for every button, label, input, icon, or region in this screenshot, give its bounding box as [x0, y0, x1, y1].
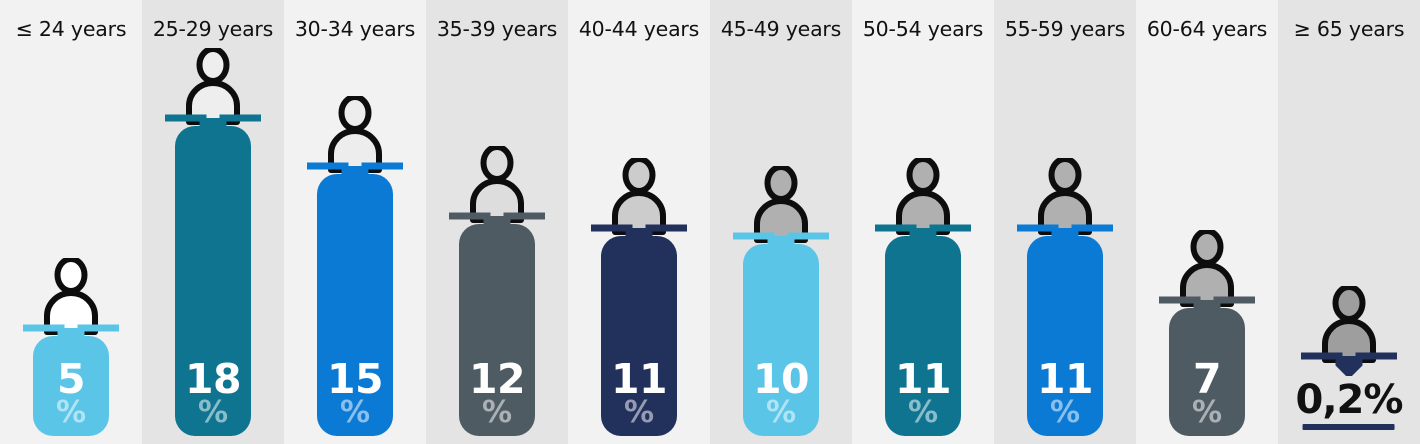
bar-value: 11 [611, 360, 667, 399]
bar-value: 5 [57, 360, 85, 399]
bar-value: 11 [1037, 360, 1093, 399]
age-group-label: 45-49 years [710, 0, 852, 58]
value-bar: 10% [743, 244, 819, 436]
value-bar: 15% [317, 174, 393, 436]
bar-value: 18 [185, 360, 241, 399]
percent-sign: % [482, 398, 512, 428]
value-bar: 11% [885, 236, 961, 436]
person-speech-icon [1011, 158, 1119, 248]
person-speech-icon [1153, 230, 1261, 320]
bar-value: 12 [469, 360, 525, 399]
bar-value: 10 [753, 360, 809, 399]
person-speech-icon [727, 166, 835, 256]
person-speech-icon [301, 96, 409, 186]
person-speech-icon [443, 146, 551, 236]
age-group-label: 60-64 years [1136, 0, 1278, 58]
person-speech-icon [17, 258, 125, 348]
age-group-column: ≤ 24 years5% [0, 0, 142, 444]
value-bar: 11% [601, 236, 677, 436]
percent-sign: % [908, 398, 938, 428]
percent-sign: % [340, 398, 370, 428]
age-group-column: 45-49 years10% [710, 0, 852, 444]
age-group-column: 55-59 years11% [994, 0, 1136, 444]
bar-value: 15 [327, 360, 383, 399]
age-group-column: 25-29 years18% [142, 0, 284, 444]
value-bar: 12% [459, 224, 535, 436]
age-group-column: 60-64 years7% [1136, 0, 1278, 444]
percent-sign: % [198, 398, 228, 428]
percent-sign: % [624, 398, 654, 428]
person-speech-icon [585, 158, 693, 248]
value-bar: 11% [1027, 236, 1103, 436]
age-distribution-chart: ≤ 24 years5%25-29 years18%30-34 years15%… [0, 0, 1420, 444]
percent-sign: % [766, 398, 796, 428]
person-speech-icon [159, 48, 267, 138]
value-bar: 5% [33, 336, 109, 436]
percent-sign: % [56, 398, 86, 428]
value-underline [1303, 424, 1395, 430]
age-group-label: 55-59 years [994, 0, 1136, 58]
age-group-label: 50-54 years [852, 0, 994, 58]
value-no-bar: 0,2% [1296, 380, 1403, 430]
value-bar: 18% [175, 126, 251, 436]
bar-value: 0,2% [1296, 380, 1403, 420]
age-group-label: 40-44 years [568, 0, 710, 58]
age-group-column: 50-54 years11% [852, 0, 994, 444]
age-group-label: ≤ 24 years [0, 0, 142, 58]
value-bar: 7% [1169, 308, 1245, 436]
bar-value: 7 [1193, 360, 1221, 399]
age-group-column: ≥ 65 years0,2% [1278, 0, 1420, 444]
age-group-label: ≥ 65 years [1278, 0, 1420, 58]
age-group-label: 30-34 years [284, 0, 426, 58]
person-speech-icon [1295, 286, 1403, 376]
age-group-label: 35-39 years [426, 0, 568, 58]
percent-sign: % [1192, 398, 1222, 428]
age-group-column: 30-34 years15% [284, 0, 426, 444]
person-speech-icon [869, 158, 977, 248]
percent-sign: % [1050, 398, 1080, 428]
bar-value: 11 [895, 360, 951, 399]
age-group-column: 35-39 years12% [426, 0, 568, 444]
age-group-column: 40-44 years11% [568, 0, 710, 444]
